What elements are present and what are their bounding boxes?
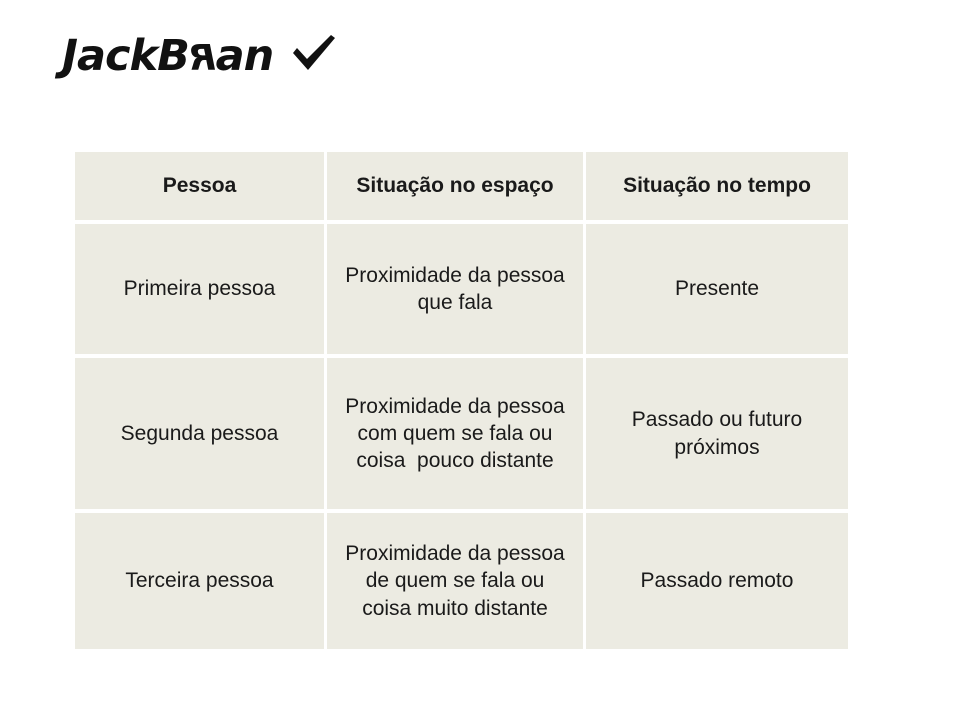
cell-person-3: Terceira pessoa: [75, 513, 327, 649]
column-header-pessoa: Pessoa: [75, 152, 327, 224]
cell-space-1: Proximidade da pessoa que fala: [327, 224, 586, 358]
grammar-person-table: Pessoa Situação no espaço Situação no te…: [75, 152, 848, 649]
cell-time-2: Passado ou futuro próximos: [586, 358, 848, 513]
table-header: Pessoa Situação no espaço Situação no te…: [75, 152, 848, 224]
table-row: Segunda pessoa Proximidade da pessoa com…: [75, 358, 848, 513]
check-icon: [291, 33, 337, 73]
brand-wordmark: JackBRan: [62, 35, 273, 78]
column-header-situacao-no-tempo: Situação no tempo: [586, 152, 848, 224]
cell-person-2: Segunda pessoa: [75, 358, 327, 513]
table-body: Primeira pessoa Proximidade da pessoa qu…: [75, 224, 848, 649]
table-header-row: Pessoa Situação no espaço Situação no te…: [75, 152, 848, 224]
cell-person-1: Primeira pessoa: [75, 224, 327, 358]
table-row: Terceira pessoa Proximidade da pessoa de…: [75, 513, 848, 649]
column-header-situacao-no-espaco: Situação no espaço: [327, 152, 586, 224]
cell-space-3: Proximidade da pessoa de quem se fala ou…: [327, 513, 586, 649]
cell-space-2: Proximidade da pessoa com quem se fala o…: [327, 358, 586, 513]
brand-wordmark-part1: JackB: [62, 35, 189, 78]
brand-wordmark-reversed-r: R: [189, 41, 216, 77]
brand-wordmark-part2: an: [216, 35, 274, 78]
table-row: Primeira pessoa Proximidade da pessoa qu…: [75, 224, 848, 358]
brand-logo: JackBRan: [62, 26, 337, 86]
cell-time-3: Passado remoto: [586, 513, 848, 649]
cell-time-1: Presente: [586, 224, 848, 358]
